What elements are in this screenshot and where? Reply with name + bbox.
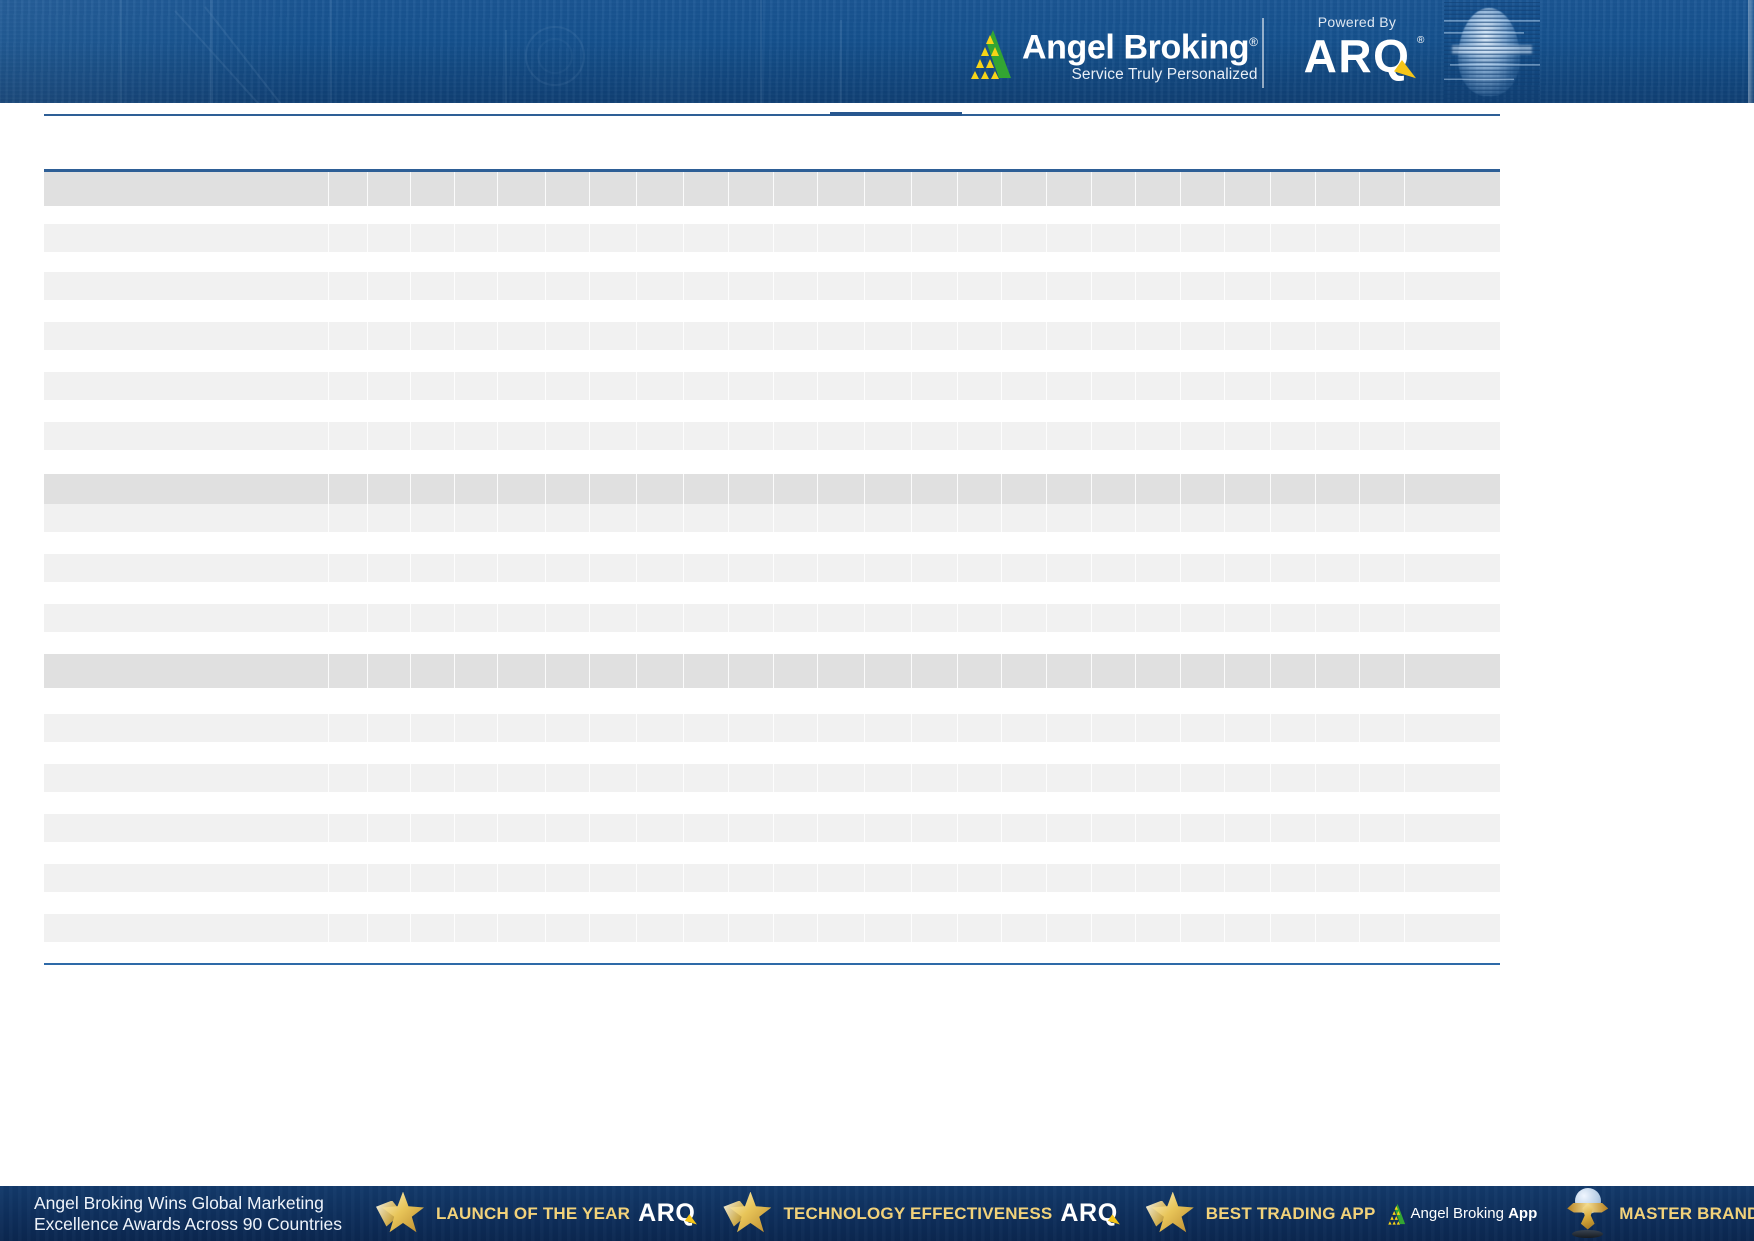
table-cell [1316,206,1360,224]
table-row [44,422,1500,450]
table-cell [1271,714,1316,742]
table-cell [1360,224,1405,252]
table-cell [1092,814,1136,842]
table-cell [1405,300,1451,322]
table-cell [774,688,818,714]
ai-head-icon [1444,2,1540,103]
table-cell [368,422,411,450]
table-cell [774,206,818,224]
table-cell [1271,792,1316,814]
table-cell [912,742,958,764]
table-cell [368,224,411,252]
table-cell [912,350,958,372]
table-cell [1047,792,1092,814]
table-cell [958,504,1002,532]
table-cell [865,892,912,914]
table-cell [1002,792,1047,814]
table-cell [958,252,1002,272]
table-cell [1316,450,1360,474]
table-cell [1092,322,1136,350]
table-cell [1002,892,1047,914]
table-cell [1092,450,1136,474]
table-row [44,554,1500,582]
table-cell [729,322,774,350]
table-cell [1316,742,1360,764]
table-cell [1092,892,1136,914]
table-cell [498,206,546,224]
table-cell [958,892,1002,914]
table-cell [455,942,498,963]
table-cell [818,632,865,654]
table-cell [958,632,1002,654]
table-cell [1092,714,1136,742]
table-cell [818,688,865,714]
table-cell [368,792,411,814]
table-cell [368,688,411,714]
table-cell [411,654,455,688]
table-row [44,504,1500,532]
table-cell [455,224,498,252]
table-cell [1316,224,1360,252]
table-cell [729,892,774,914]
table-cell [329,504,368,532]
table-cell [1092,206,1136,224]
table-cell [818,252,865,272]
table-cell [498,714,546,742]
table-cell [818,582,865,604]
table-cell [1271,764,1316,792]
table-cell [1271,892,1316,914]
table-cell [1047,892,1092,914]
table-cell [329,814,368,842]
table-cell [44,892,329,914]
table-cell [1002,372,1047,400]
table-cell [411,322,455,350]
table-cell [774,532,818,554]
table-cell [1002,206,1047,224]
table-cell [455,172,498,206]
table-cell [411,172,455,206]
table-cell [684,300,729,322]
table-cell [368,814,411,842]
table-row [44,842,1500,864]
table-cell [818,914,865,942]
table-cell [729,632,774,654]
table-cell [729,252,774,272]
table-cell [498,224,546,252]
table-cell [329,842,368,864]
table-cell [1225,632,1271,654]
table-cell [1360,814,1405,842]
award-item: BEST TRADING APPAngel Broking App [1148,1186,1537,1241]
table-cell [546,372,590,400]
table-cell [729,792,774,814]
table-cell [546,322,590,350]
table-cell [1405,654,1451,688]
table-cell [44,914,329,942]
table-cell [684,350,729,372]
table-cell [1271,224,1316,252]
table-cell [368,252,411,272]
table-cell [1047,688,1092,714]
table-cell [411,206,455,224]
table-cell [774,322,818,350]
table-cell [865,742,912,764]
table-cell [1316,842,1360,864]
table-cell [684,532,729,554]
table-cell [729,224,774,252]
table-cell [684,604,729,632]
table-cell [1002,172,1047,206]
table-cell [498,764,546,792]
table-cell [684,322,729,350]
table-cell [1316,554,1360,582]
table-cell [590,350,637,372]
table-cell [912,300,958,322]
table-cell [1225,206,1271,224]
table-cell [329,350,368,372]
table-cell [1092,252,1136,272]
table-bottom-rule [44,963,1500,965]
header-banner: Angel Broking® Service Truly Personalize… [0,0,1754,103]
table-cell [1225,372,1271,400]
table-cell [684,422,729,450]
award-brand-prefix: Angel Broking [1411,1205,1509,1222]
table-cell [44,350,329,372]
table-cell [1092,914,1136,942]
table-cell [912,532,958,554]
table-cell [1136,632,1181,654]
table-cell [546,400,590,422]
table-cell [329,252,368,272]
table-cell [1405,764,1451,792]
table-cell [329,554,368,582]
table-cell [1405,714,1451,742]
table-cell [1136,532,1181,554]
table-cell [684,814,729,842]
table-cell [912,372,958,400]
table-cell [1002,914,1047,942]
table-cell [329,942,368,963]
table-cell [958,372,1002,400]
table-cell [1271,322,1316,350]
table-cell [684,942,729,963]
table-cell [1360,322,1405,350]
table-cell [1181,272,1225,300]
table-cell [1316,688,1360,714]
table-cell [958,742,1002,764]
table-cell [1360,742,1405,764]
table-cell [546,892,590,914]
table-cell [1092,350,1136,372]
table-cell [411,864,455,892]
table-cell [1225,272,1271,300]
table-cell [865,654,912,688]
table-cell [498,582,546,604]
table-cell [498,688,546,714]
table-cell [546,632,590,654]
table-cell [368,350,411,372]
table-cell [1181,350,1225,372]
table-cell [774,554,818,582]
table-cell [684,792,729,814]
table-cell [1002,604,1047,632]
table-cell [1002,322,1047,350]
table-cell [729,742,774,764]
table-cell [329,474,368,504]
table-cell [684,582,729,604]
table-cell [590,322,637,350]
powered-by-label: Powered By [1318,14,1396,30]
table-cell [1360,554,1405,582]
table-cell [1136,892,1181,914]
table-cell [958,422,1002,450]
table-row [44,400,1500,422]
table-cell [1181,474,1225,504]
table-cell [729,474,774,504]
table-cell [44,842,329,864]
table-cell [958,914,1002,942]
table-cell [1225,688,1271,714]
award-label: TECHNOLOGY EFFECTIVENESS [783,1204,1052,1224]
table-cell [684,714,729,742]
table-cell [546,554,590,582]
table-cell [684,914,729,942]
table-cell [590,792,637,814]
table-cell [546,814,590,842]
table-cell [1316,532,1360,554]
table-cell [958,206,1002,224]
table-cell [865,172,912,206]
table-cell [1181,322,1225,350]
table-cell [637,372,684,400]
table-cell [498,474,546,504]
table-cell [455,632,498,654]
table-cell [774,504,818,532]
table-cell [546,864,590,892]
table-cell [1092,632,1136,654]
table-cell [818,714,865,742]
table-cell [1316,604,1360,632]
table-cell [1360,688,1405,714]
table-cell [1136,350,1181,372]
table-cell [1047,864,1092,892]
table-cell [729,300,774,322]
table-cell [1136,792,1181,814]
table-cell [1181,688,1225,714]
table-cell [637,842,684,864]
table-cell [44,714,329,742]
table-cell [498,422,546,450]
table-cell [1092,842,1136,864]
table-cell [865,714,912,742]
table-cell [729,942,774,963]
table-cell [637,322,684,350]
table-cell [1225,792,1271,814]
table-cell [329,914,368,942]
table-cell [912,892,958,914]
table-cell [729,582,774,604]
table-cell [684,224,729,252]
table-cell [637,914,684,942]
table-cell [818,864,865,892]
table-cell [1047,322,1092,350]
table-cell [455,422,498,450]
table-cell [637,632,684,654]
table-cell [44,604,329,632]
table-cell [44,422,329,450]
table-cell [818,654,865,688]
table-cell [818,532,865,554]
table-row [44,914,1500,942]
table-row [44,272,1500,300]
table-cell [865,604,912,632]
table-cell [774,350,818,372]
table-cell [1316,422,1360,450]
award-item: TECHNOLOGY EFFECTIVENESSARQ [725,1186,1121,1241]
table-cell [368,372,411,400]
angel-broking-logo: Angel Broking® Service Truly Personalize… [962,21,1258,87]
table-cell [684,474,729,504]
table-cell [1136,714,1181,742]
table-cell [411,532,455,554]
table-cell [368,272,411,300]
table-cell [865,474,912,504]
table-cell [329,604,368,632]
table-cell [1360,764,1405,792]
table-cell [411,764,455,792]
table-cell [1092,654,1136,688]
table-cell [1225,252,1271,272]
table-cell [1136,554,1181,582]
table-cell [590,688,637,714]
table-cell [411,350,455,372]
table-cell [818,814,865,842]
table-cell [44,864,329,892]
table-cell [1225,914,1271,942]
table-cell [637,400,684,422]
table-cell [637,892,684,914]
table-cell [1316,322,1360,350]
table-cell [1225,604,1271,632]
table-cell [1181,554,1225,582]
arq-logo: Powered By ARQ ® [1282,14,1432,81]
table-cell [368,942,411,963]
table-cell [1181,532,1225,554]
table-cell [637,206,684,224]
table-cell [1225,742,1271,764]
table-cell [1316,864,1360,892]
table-cell [729,914,774,942]
table-cell [329,300,368,322]
table-cell [455,504,498,532]
table-cell [1136,206,1181,224]
table-cell [1271,272,1316,300]
table-cell [865,350,912,372]
table-cell [411,604,455,632]
table-cell [455,322,498,350]
table-cell [411,224,455,252]
table-cell [1047,842,1092,864]
table-cell [1047,350,1092,372]
table-cell [1181,224,1225,252]
table-row [44,742,1500,764]
table-cell [1405,604,1451,632]
table-cell [590,172,637,206]
table-cell [455,814,498,842]
table-cell [590,532,637,554]
table-cell [684,632,729,654]
table-cell [729,654,774,688]
table-cell [1271,842,1316,864]
table-cell [774,792,818,814]
table-cell [1002,842,1047,864]
table-cell [1136,814,1181,842]
award-arq-text: ARQ [1060,1199,1117,1227]
brand-name: Angel Broking® [1022,24,1258,65]
table-cell [1360,252,1405,272]
table-cell [44,654,329,688]
table-cell [684,272,729,300]
table-cell [684,172,729,206]
table-cell [1136,654,1181,688]
table-cell [1047,554,1092,582]
table-cell [912,252,958,272]
table-cell [1047,252,1092,272]
table-cell [684,742,729,764]
table-row [44,892,1500,914]
table-cell [1271,532,1316,554]
table-cell [368,554,411,582]
table-cell [912,554,958,582]
table-cell [1405,450,1451,474]
table-cell [1225,422,1271,450]
table-cell [1405,224,1451,252]
table-cell [637,172,684,206]
table-cell [912,206,958,224]
table-cell [865,224,912,252]
table-cell [411,272,455,300]
table-cell [1225,504,1271,532]
table-cell [1181,300,1225,322]
table-cell [1181,714,1225,742]
table-cell [912,864,958,892]
table-cell [774,372,818,400]
table-cell [455,792,498,814]
table-cell [637,532,684,554]
table-cell [368,474,411,504]
table-cell [44,252,329,272]
table-cell [912,632,958,654]
table-cell [1092,172,1136,206]
table-cell [329,450,368,474]
table-cell [1136,474,1181,504]
arq-registered-mark: ® [1417,35,1424,46]
table-cell [1092,554,1136,582]
table-cell [44,532,329,554]
table-cell [1092,792,1136,814]
table-cell [1002,350,1047,372]
table-cell [865,792,912,814]
table-cell [1225,582,1271,604]
table-cell [1047,914,1092,942]
table-cell [1316,504,1360,532]
table-cell [1405,914,1451,942]
table-cell [958,942,1002,963]
table-cell [774,814,818,842]
table-cell [1181,942,1225,963]
table-cell [590,272,637,300]
